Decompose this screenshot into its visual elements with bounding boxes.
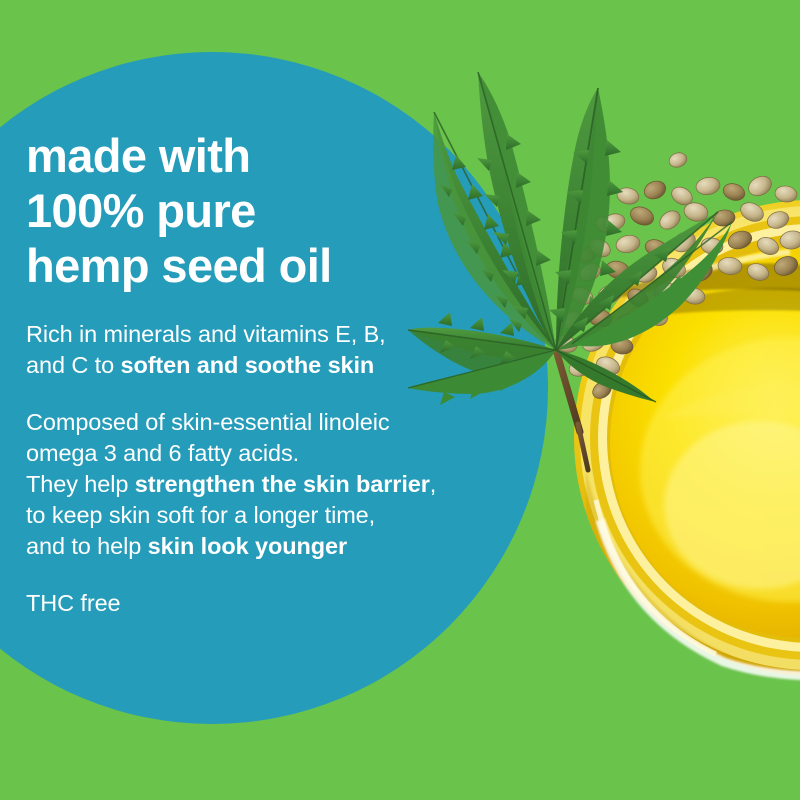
paragraph-thc: THC free bbox=[26, 588, 546, 619]
text-run-bold: soften and soothe skin bbox=[120, 352, 374, 378]
text-run: Composed of skin-essential linoleic bbox=[26, 409, 390, 435]
paragraph-line: They help strengthen the skin barrier, bbox=[26, 469, 546, 500]
text-run: They help bbox=[26, 471, 135, 497]
text-run-bold: skin look younger bbox=[148, 533, 347, 559]
paragraph-line: omega 3 and 6 fatty acids. bbox=[26, 438, 546, 469]
text-run: , bbox=[430, 471, 436, 497]
paragraph-fatty-acids: Composed of skin-essential linoleic omeg… bbox=[26, 407, 546, 562]
paragraph-vitamins: Rich in minerals and vitamins E, B, and … bbox=[26, 319, 546, 381]
paragraph-line: and to help skin look younger bbox=[26, 531, 546, 562]
paragraph-line: and C to soften and soothe skin bbox=[26, 350, 546, 381]
page-title: made with 100% pure hemp seed oil bbox=[26, 128, 546, 293]
paragraph-line: Rich in minerals and vitamins E, B, bbox=[26, 319, 546, 350]
paragraph-line: THC free bbox=[26, 588, 546, 619]
text-run-bold: strengthen the skin barrier bbox=[135, 471, 430, 497]
paragraph-line: to keep skin soft for a longer time, bbox=[26, 500, 546, 531]
paragraph-line: Composed of skin-essential linoleic bbox=[26, 407, 546, 438]
text-run: Rich in minerals and vitamins E, B, bbox=[26, 321, 386, 347]
text-run: and C to bbox=[26, 352, 120, 378]
text-run: omega 3 and 6 fatty acids. bbox=[26, 440, 299, 466]
text-run: THC free bbox=[26, 590, 121, 616]
text-run: and to help bbox=[26, 533, 148, 559]
text-run: to keep skin soft for a longer time, bbox=[26, 502, 375, 528]
copy-block: made with 100% pure hemp seed oil Rich i… bbox=[26, 128, 546, 619]
promo-graphic: made with 100% pure hemp seed oil Rich i… bbox=[0, 0, 800, 800]
